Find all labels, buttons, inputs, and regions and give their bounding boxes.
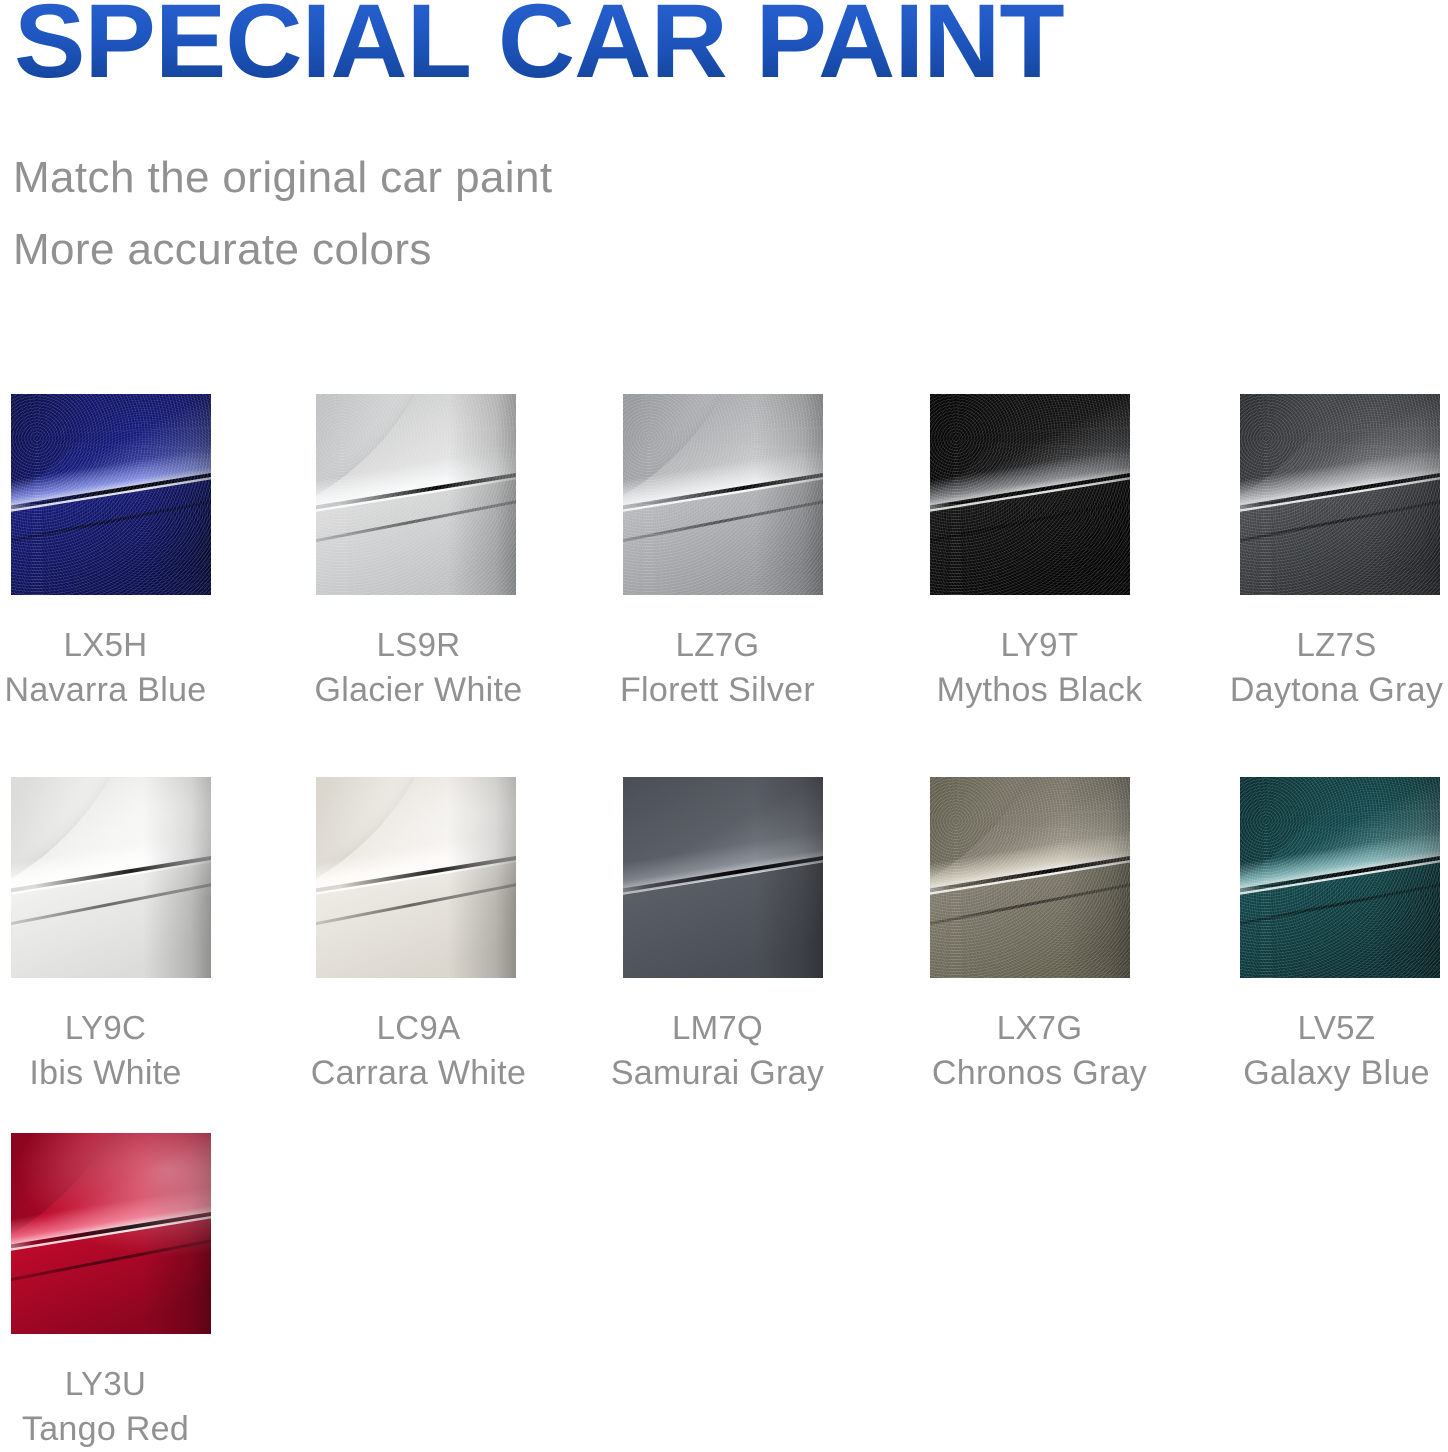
paint-swatch-lz7s[interactable]: LZ7SDaytona Gray [1184, 394, 1448, 713]
metallic-flake-texture [316, 394, 516, 595]
paint-name: Ibis White [0, 1050, 258, 1096]
paint-code: LX5H [0, 623, 258, 667]
paint-swatch-label: LY9CIbis White [0, 1006, 258, 1096]
paint-swatch-grid: LX5HNavarra BlueLS9RGlacier WhiteLZ7GFlo… [0, 0, 1448, 1435]
gloss-sheen [316, 777, 516, 978]
paint-swatch-lc9a[interactable]: LC9ACarrara White [266, 777, 571, 1096]
paint-code: LS9R [266, 623, 571, 667]
paint-name: Tango Red [0, 1406, 258, 1452]
paint-chip-image[interactable] [930, 394, 1130, 595]
paint-swatch-label: LY3UTango Red [0, 1362, 258, 1452]
paint-chip-image[interactable] [11, 1133, 211, 1334]
metallic-flake-texture [623, 394, 823, 595]
paint-name: Carrara White [266, 1050, 571, 1096]
paint-name: Galaxy Blue [1184, 1050, 1448, 1096]
paint-swatch-ls9r[interactable]: LS9RGlacier White [266, 394, 571, 713]
paint-swatch-lz7g[interactable]: LZ7GFlorett Silver [565, 394, 870, 713]
paint-name: Florett Silver [565, 667, 870, 713]
paint-swatch-ly9t[interactable]: LY9TMythos Black [887, 394, 1192, 713]
paint-code: LM7Q [565, 1006, 870, 1050]
paint-swatch-lv5z[interactable]: LV5ZGalaxy Blue [1184, 777, 1448, 1096]
metallic-flake-texture [1240, 777, 1440, 978]
paint-code: LV5Z [1184, 1006, 1448, 1050]
paint-code: LZ7G [565, 623, 870, 667]
paint-code: LC9A [266, 1006, 571, 1050]
paint-name: Glacier White [266, 667, 571, 713]
paint-code: LY9C [0, 1006, 258, 1050]
paint-swatch-label: LZ7SDaytona Gray [1184, 623, 1448, 713]
paint-swatch-label: LS9RGlacier White [266, 623, 571, 713]
paint-swatch-label: LZ7GFlorett Silver [565, 623, 870, 713]
paint-code: LY9T [887, 623, 1192, 667]
gloss-sheen [11, 1133, 211, 1334]
panel-flank-shade [755, 777, 823, 978]
metallic-flake-texture [11, 394, 211, 595]
paint-chip-image[interactable] [1240, 394, 1440, 595]
paint-chip-image[interactable] [11, 394, 211, 595]
paint-chip-image[interactable] [623, 777, 823, 978]
paint-swatch-lx5h[interactable]: LX5HNavarra Blue [0, 394, 258, 713]
paint-name: Daytona Gray [1184, 667, 1448, 713]
metallic-flake-texture [930, 777, 1130, 978]
paint-chip-image[interactable] [11, 777, 211, 978]
paint-code: LZ7S [1184, 623, 1448, 667]
metallic-flake-texture [1240, 394, 1440, 595]
paint-code: LY3U [0, 1362, 258, 1406]
paint-swatch-lm7q[interactable]: LM7QSamurai Gray [565, 777, 870, 1096]
paint-name: Navarra Blue [0, 667, 258, 713]
paint-name: Mythos Black [887, 667, 1192, 713]
paint-chip-image[interactable] [930, 777, 1130, 978]
paint-name: Chronos Gray [887, 1050, 1192, 1096]
metallic-flake-texture [930, 394, 1130, 595]
paint-swatch-label: LV5ZGalaxy Blue [1184, 1006, 1448, 1096]
paint-swatch-label: LY9TMythos Black [887, 623, 1192, 713]
paint-swatch-label: LX5HNavarra Blue [0, 623, 258, 713]
paint-swatch-lx7g[interactable]: LX7GChronos Gray [887, 777, 1192, 1096]
paint-swatch-ly3u[interactable]: LY3UTango Red [0, 1133, 258, 1452]
paint-chip-image[interactable] [316, 777, 516, 978]
paint-swatch-ly9c[interactable]: LY9CIbis White [0, 777, 258, 1096]
paint-swatch-label: LC9ACarrara White [266, 1006, 571, 1096]
paint-chip-image[interactable] [623, 394, 823, 595]
paint-swatch-label: LM7QSamurai Gray [565, 1006, 870, 1096]
paint-swatch-label: LX7GChronos Gray [887, 1006, 1192, 1096]
paint-chip-image[interactable] [1240, 777, 1440, 978]
paint-chip-image[interactable] [316, 394, 516, 595]
gloss-sheen [11, 777, 211, 978]
paint-name: Samurai Gray [565, 1050, 870, 1096]
paint-code: LX7G [887, 1006, 1192, 1050]
